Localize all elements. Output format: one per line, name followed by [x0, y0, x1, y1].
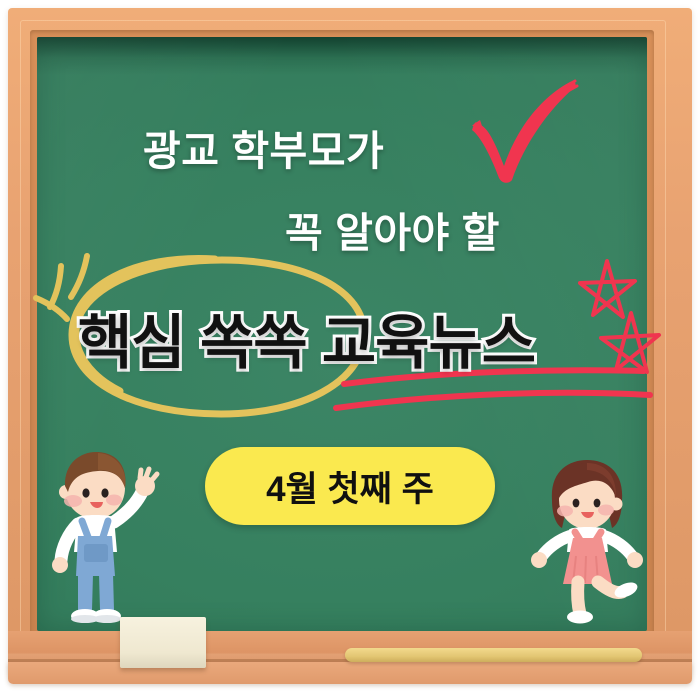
chalk-eraser[interactable]: [120, 617, 206, 668]
chalk-ledge-lip: [8, 662, 692, 684]
hand-raised: [135, 469, 157, 496]
subtitle-line-1: 광교 학부모가: [143, 117, 384, 177]
board-top-shading: [37, 37, 647, 75]
waving-boy: [48, 448, 166, 626]
subtitle-line-2: 꼭 알아야 할: [285, 199, 500, 259]
running-girl: [528, 456, 648, 624]
poster-canvas: 광교 학부모가 꼭 알아야 할 핵심 쏙쏙 교육뉴스 4월 첫째 주: [0, 0, 700, 700]
week-badge-label: 4월 첫째 주: [266, 461, 434, 512]
main-title: 핵심 쏙쏙 교육뉴스: [78, 295, 608, 380]
chalk-stick[interactable]: [345, 648, 642, 662]
week-badge[interactable]: 4월 첫째 주: [205, 447, 495, 525]
